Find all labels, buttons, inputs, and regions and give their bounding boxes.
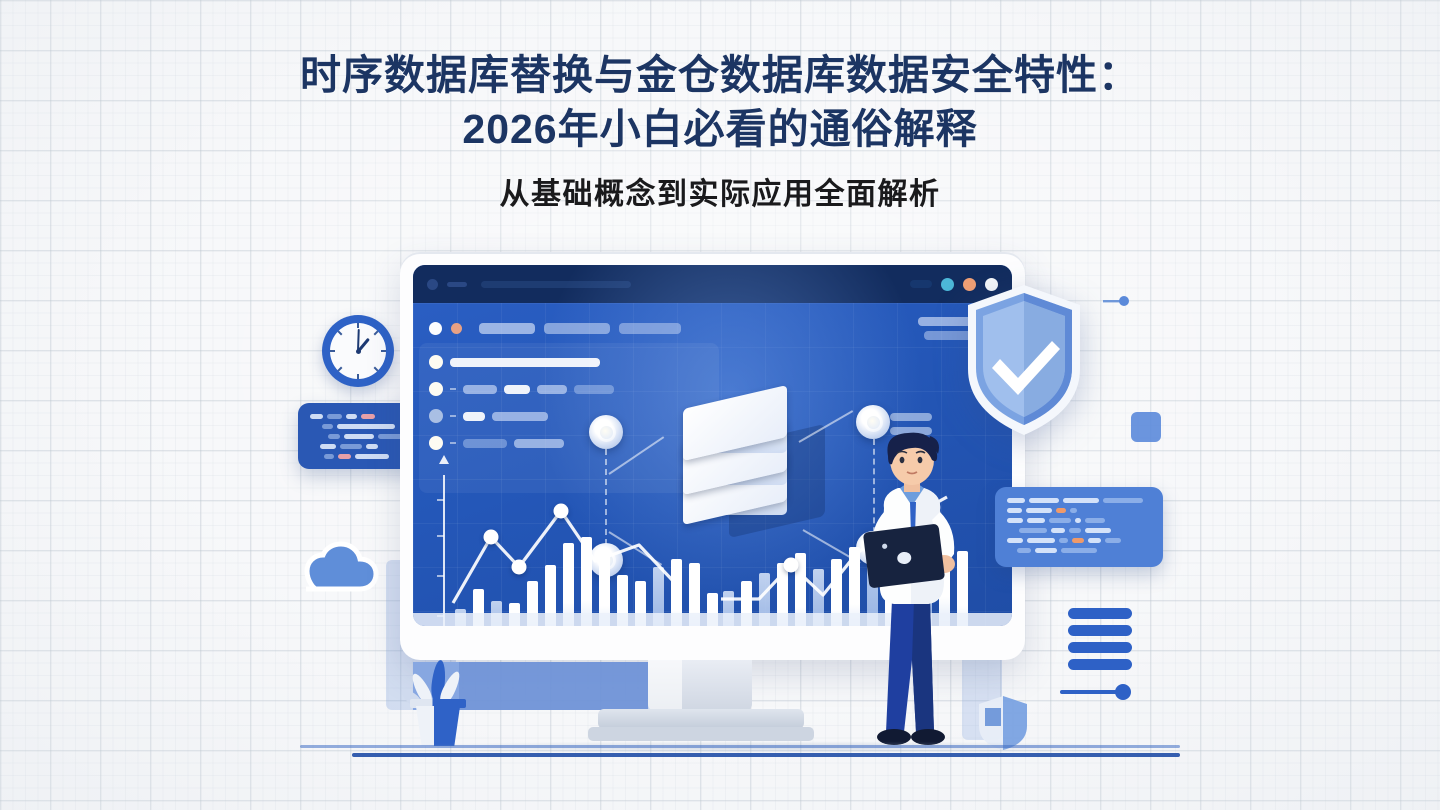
monitor-neck [648,660,752,712]
data-point [512,560,527,575]
connector-node [589,415,623,449]
poster-heading: 时序数据库替换与金仓数据库数据安全特性： 2026年小白必看的通俗解释 从基础概… [0,48,1440,213]
menu-bar[interactable] [1068,642,1132,653]
ground-line-secondary [300,745,1180,748]
alert-dot [451,323,462,334]
window-dot [427,279,438,290]
status-dot [429,322,442,335]
header-label [619,323,681,334]
data-point [484,530,499,545]
header-label [544,323,610,334]
monitor-base [598,709,804,729]
trend-line [443,463,701,626]
data-point [554,504,569,519]
nav-pill [447,282,467,287]
potted-plant-icon [404,660,472,746]
pin-icon [1103,293,1129,303]
slider-handle[interactable] [1115,684,1131,700]
code-snippet-card-right [995,487,1163,567]
data-point [784,558,799,573]
cloud-icon [286,535,382,593]
shield-check-icon [962,283,1086,438]
slider-icon[interactable] [1060,684,1136,698]
header-label [479,323,535,334]
person-with-tablet [852,432,976,760]
list-item [429,355,729,369]
dashboard-header [429,317,996,340]
list-menu-icon[interactable] [1068,608,1132,676]
bar-chart-left: 2M 18 19 2Q [443,463,701,626]
title-line-2: 2026年小白必看的通俗解释 [0,102,1440,156]
clock-icon [322,315,394,387]
decor-square [1131,412,1161,442]
menu-bar[interactable] [1068,659,1132,670]
poster-subtitle: 从基础概念到实际应用全面解析 [0,169,1440,213]
list-item [429,382,729,396]
cyan-dot[interactable] [941,278,954,291]
menu-bar[interactable] [1068,608,1132,619]
menu-bar[interactable] [1068,625,1132,636]
ground-line [352,753,1180,757]
title-line-1: 时序数据库替换与金仓数据库数据安全特性： [0,48,1440,102]
